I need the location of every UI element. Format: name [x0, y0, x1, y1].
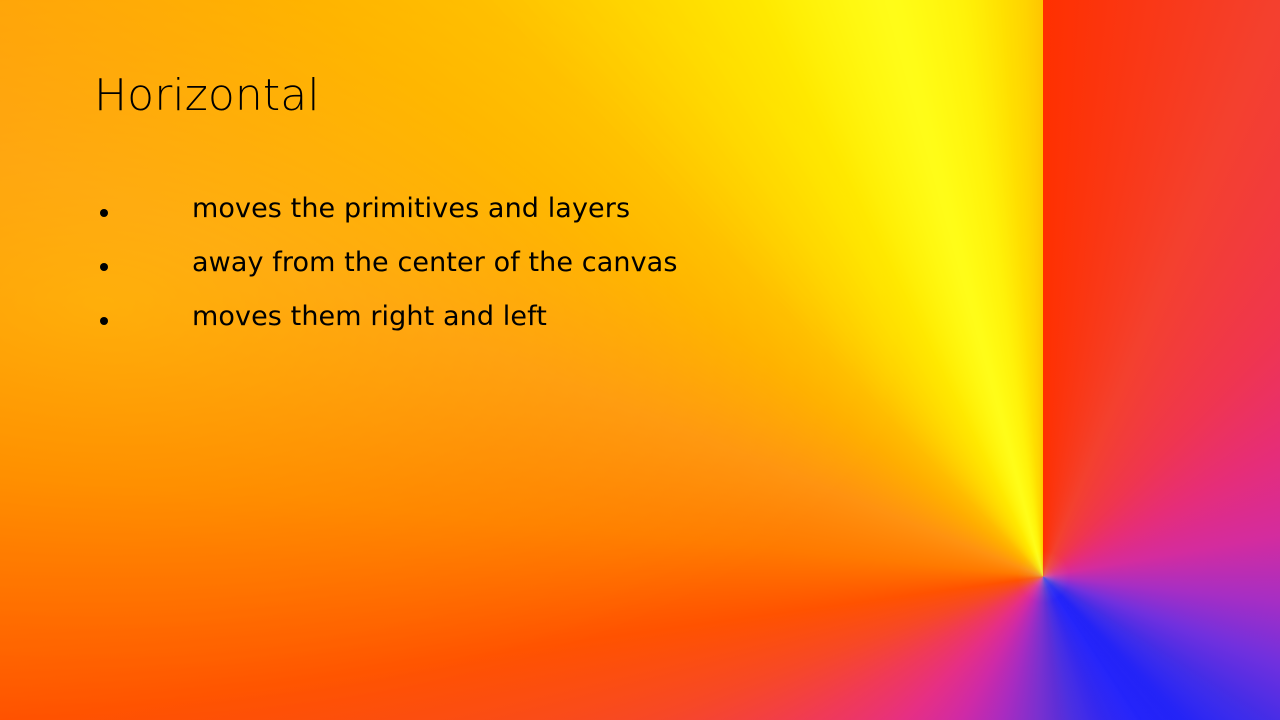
list-item: away from the center of the canvas: [94, 247, 1134, 301]
bullet-text: moves the primitives and layers: [192, 193, 630, 225]
presentation-slide: Horizontal moves the primitives and laye…: [0, 0, 1280, 720]
slide-content: Horizontal moves the primitives and laye…: [0, 0, 1280, 720]
bullet-dot-icon: [100, 209, 108, 217]
bullet-dot-icon: [100, 317, 108, 325]
bullet-dot-icon: [100, 263, 108, 271]
list-item: moves them right and left: [94, 301, 1134, 355]
bullet-text: moves them right and left: [192, 301, 547, 333]
bullet-list: moves the primitives and layers away fro…: [94, 193, 1134, 355]
list-item: moves the primitives and layers: [94, 193, 1134, 247]
bullet-text: away from the center of the canvas: [192, 247, 677, 279]
slide-title: Horizontal: [94, 70, 320, 122]
